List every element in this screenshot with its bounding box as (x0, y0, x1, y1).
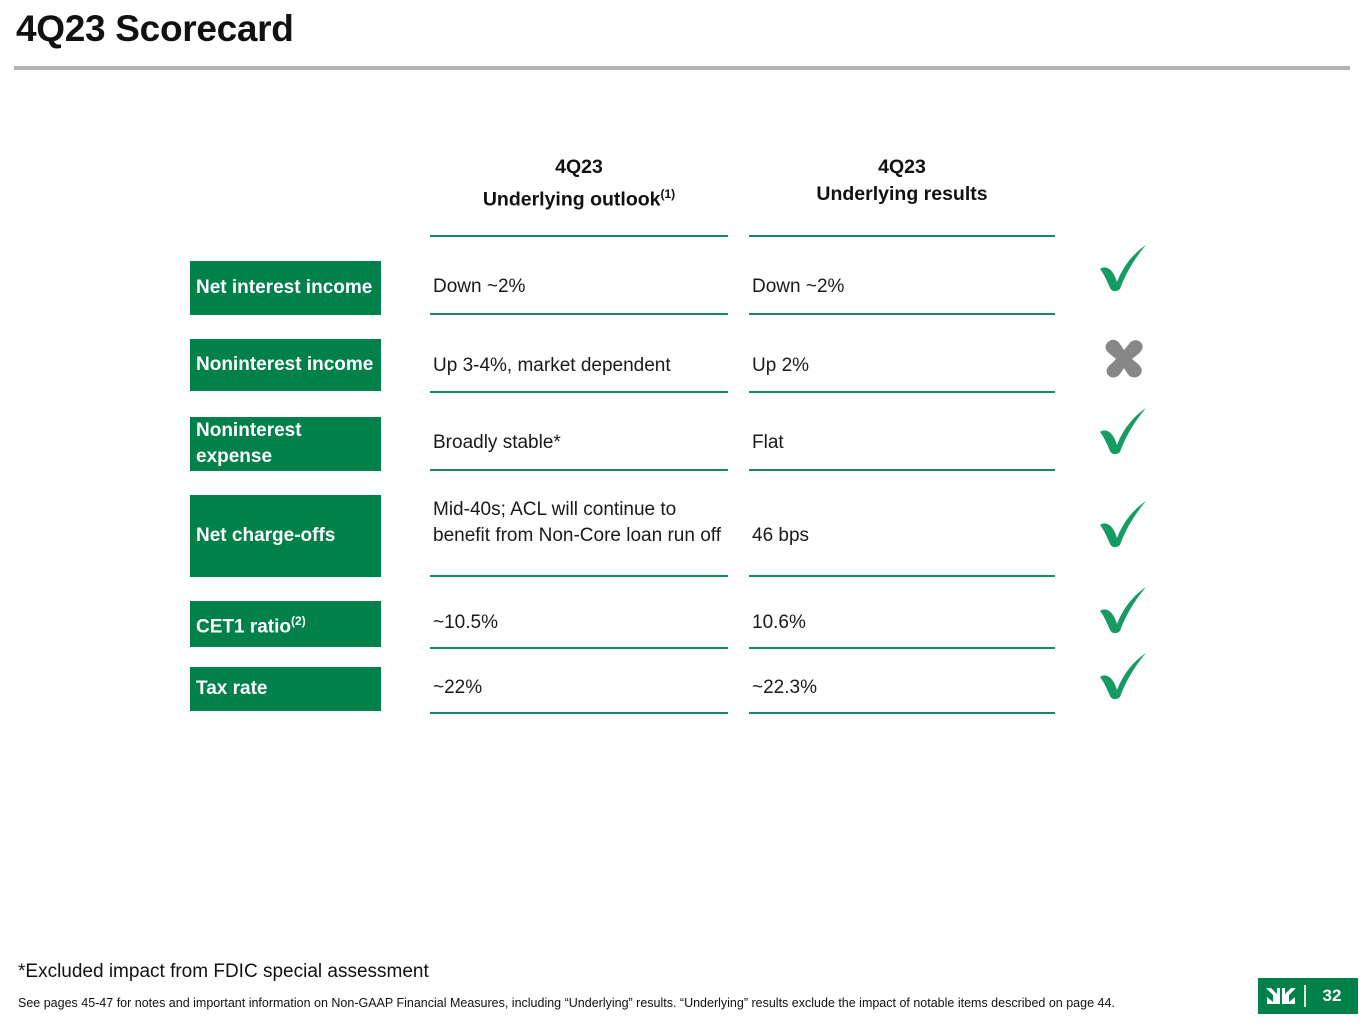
row-label-noninterest-income: Noninterest income (190, 339, 381, 391)
status-check-icon-2 (1094, 405, 1156, 457)
column-header-rule-results (749, 235, 1055, 237)
row-label-net-interest-income: Net interest income (190, 261, 381, 315)
row-label-text: Noninterest expense (196, 418, 381, 470)
status-check-icon-3 (1094, 498, 1156, 550)
cell-results-3: 46 bps (752, 523, 1054, 549)
row-label-text: Net charge-offs (196, 523, 335, 549)
cell-rule-outlook-4 (430, 647, 728, 649)
column-header-results-line2: Underlying results (816, 183, 987, 205)
cell-results-5: ~22.3% (752, 675, 1054, 701)
column-header-outlook: 4Q23 Underlying outlook(1) (430, 154, 728, 214)
cell-rule-outlook-1 (430, 391, 728, 393)
column-header-rule-outlook (430, 235, 728, 237)
row-label-cet1-ratio: CET1 ratio(2) (190, 601, 381, 647)
cell-rule-results-2 (749, 469, 1055, 471)
cell-rule-results-4 (749, 647, 1055, 649)
cell-rule-outlook-0 (430, 313, 728, 315)
cell-rule-results-3 (749, 575, 1055, 577)
page-badge: 32 (1258, 978, 1358, 1014)
row-label-text: Net interest income (196, 275, 372, 301)
cell-outlook-5: ~22% (433, 675, 729, 701)
cell-results-0: Down ~2% (752, 274, 1054, 300)
cell-outlook-1: Up 3-4%, market dependent (433, 353, 729, 379)
cell-rule-outlook-5 (430, 712, 728, 714)
company-logo-icon (1258, 985, 1304, 1007)
row-label-noninterest-expense: Noninterest expense (190, 417, 381, 471)
row-label-text: Noninterest income (196, 352, 373, 378)
cell-rule-results-1 (749, 391, 1055, 393)
cell-results-2: Flat (752, 430, 1054, 456)
cell-outlook-3: Mid-40s; ACL will continue to benefit fr… (433, 497, 729, 549)
row-label-net-charge-offs: Net charge-offs (190, 495, 381, 577)
status-cross-icon-1 (1094, 330, 1156, 382)
cell-outlook-4: ~10.5% (433, 610, 729, 636)
footnote-asterisk: *Excluded impact from FDIC special asses… (18, 961, 429, 983)
cell-rule-outlook-2 (430, 469, 728, 471)
column-header-outlook-superscript: (1) (661, 187, 676, 201)
cell-results-4: 10.6% (752, 610, 1054, 636)
column-header-results-line1: 4Q23 (878, 156, 926, 178)
status-check-icon-4 (1094, 584, 1156, 636)
column-header-results: 4Q23 Underlying results (749, 154, 1055, 208)
column-header-outlook-line1: 4Q23 (555, 156, 603, 178)
cell-outlook-2: Broadly stable* (433, 430, 729, 456)
cell-results-1: Up 2% (752, 353, 1054, 379)
row-label-tax-rate: Tax rate (190, 667, 381, 711)
cell-outlook-0: Down ~2% (433, 274, 729, 300)
status-check-icon-0 (1094, 242, 1156, 294)
page-number: 32 (1306, 986, 1358, 1006)
cell-rule-results-5 (749, 712, 1055, 714)
badge-divider (1304, 985, 1306, 1007)
scorecard-table: 4Q23 Underlying outlook(1) 4Q23 Underlyi… (0, 0, 1365, 1024)
cell-rule-outlook-3 (430, 575, 728, 577)
footnote-disclaimer: See pages 45-47 for notes and important … (18, 996, 1115, 1010)
row-label-text: Tax rate (196, 676, 267, 702)
column-header-outlook-line2: Underlying outlook (483, 189, 661, 211)
row-label-superscript: (2) (291, 614, 306, 628)
row-label-text: CET1 ratio(2) (196, 608, 306, 640)
cell-rule-results-0 (749, 313, 1055, 315)
status-check-icon-5 (1094, 650, 1156, 702)
